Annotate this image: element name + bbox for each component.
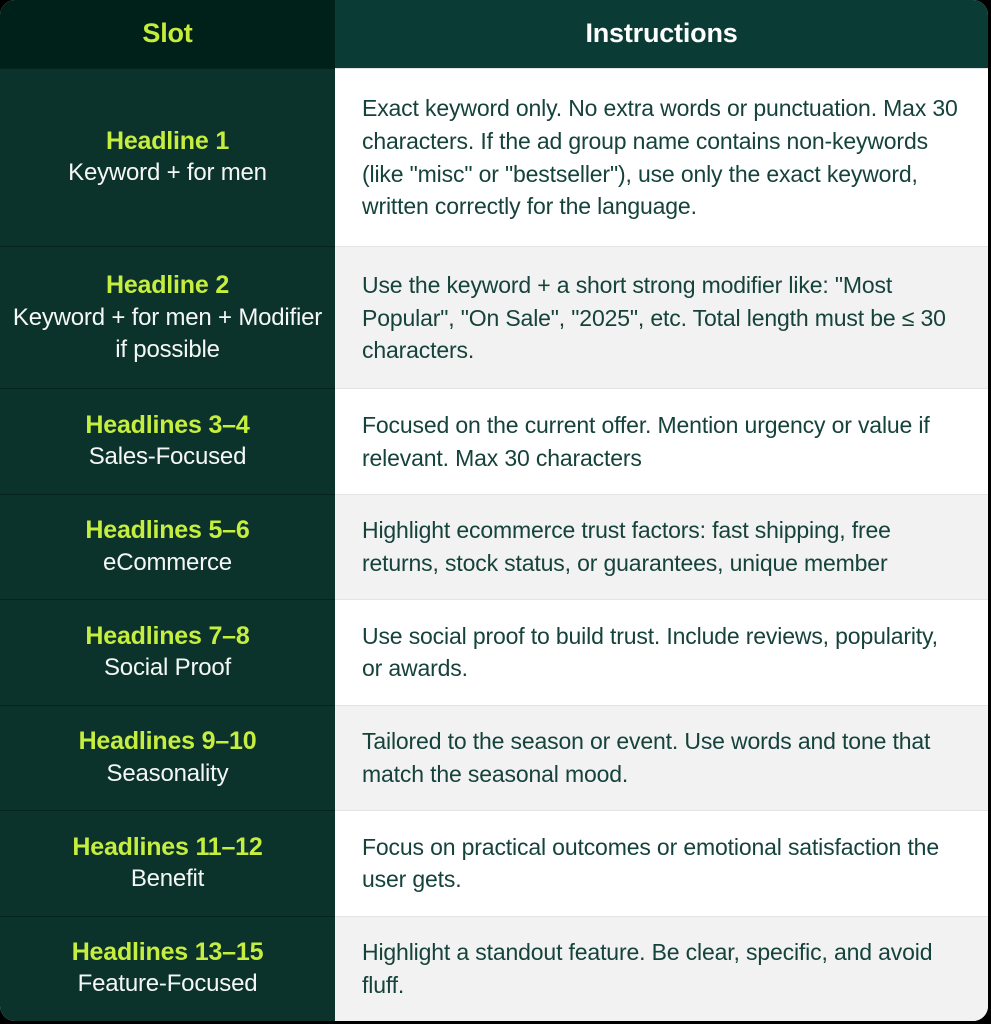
table-row: Headlines 5–6 eCommerce Highlight ecomme… <box>0 494 988 599</box>
table-row: Headline 2 Keyword + for men + Modifier … <box>0 247 988 389</box>
instructions-text: Use social proof to build trust. Include… <box>362 620 962 685</box>
column-header-instructions-label: Instructions <box>585 18 737 48</box>
slot-cell: Headlines 5–6 eCommerce <box>0 494 335 599</box>
slot-subtitle: eCommerce <box>12 547 323 579</box>
table-row: Headlines 13–15 Feature-Focused Highligh… <box>0 916 988 1021</box>
slot-title: Headlines 11–12 <box>12 832 323 863</box>
slot-cell: Headline 2 Keyword + for men + Modifier … <box>0 247 335 389</box>
slot-subtitle: Sales-Focused <box>12 441 323 473</box>
slot-cell: Headlines 11–12 Benefit <box>0 811 335 916</box>
column-header-slot: Slot <box>0 0 335 69</box>
slot-cell: Headlines 3–4 Sales-Focused <box>0 389 335 494</box>
slot-cell: Headline 1 Keyword + for men <box>0 69 335 247</box>
table-row: Headlines 9–10 Seasonality Tailored to t… <box>0 705 988 810</box>
column-header-instructions: Instructions <box>335 0 988 69</box>
slot-subtitle: Keyword + for men <box>12 157 323 189</box>
instructions-cell: Exact keyword only. No extra words or pu… <box>335 69 988 247</box>
slot-subtitle: Feature-Focused <box>12 968 323 1000</box>
instructions-text: Focused on the current offer. Mention ur… <box>362 409 962 474</box>
slot-title: Headline 1 <box>12 126 323 157</box>
instructions-cell: Highlight ecommerce trust factors: fast … <box>335 494 988 599</box>
table-row: Headlines 11–12 Benefit Focus on practic… <box>0 811 988 916</box>
instructions-cell: Tailored to the season or event. Use wor… <box>335 705 988 810</box>
instructions-cell: Focused on the current offer. Mention ur… <box>335 389 988 494</box>
slot-subtitle: Seasonality <box>12 758 323 790</box>
slot-title: Headlines 3–4 <box>12 410 323 441</box>
slot-subtitle: Benefit <box>12 863 323 895</box>
slot-subtitle: Keyword + for men + Modifier if possible <box>12 302 323 366</box>
slot-subtitle: Social Proof <box>12 652 323 684</box>
slot-title: Headlines 13–15 <box>12 937 323 968</box>
slot-title: Headlines 9–10 <box>12 726 323 757</box>
slot-cell: Headlines 13–15 Feature-Focused <box>0 916 335 1021</box>
table-row: Headlines 7–8 Social Proof Use social pr… <box>0 600 988 705</box>
instructions-text: Tailored to the season or event. Use wor… <box>362 725 962 790</box>
instructions-text: Highlight ecommerce trust factors: fast … <box>362 514 962 579</box>
instructions-cell: Use social proof to build trust. Include… <box>335 600 988 705</box>
instructions-table-container: Slot Instructions Headline 1 Keyword + f… <box>0 0 988 1021</box>
instructions-cell: Use the keyword + a short strong modifie… <box>335 247 988 389</box>
instructions-cell: Focus on practical outcomes or emotional… <box>335 811 988 916</box>
instructions-text: Use the keyword + a short strong modifie… <box>362 269 962 367</box>
slot-title: Headline 2 <box>12 270 323 301</box>
table-row: Headlines 3–4 Sales-Focused Focused on t… <box>0 389 988 494</box>
instructions-cell: Highlight a standout feature. Be clear, … <box>335 916 988 1021</box>
slot-title: Headlines 5–6 <box>12 515 323 546</box>
instructions-table: Slot Instructions Headline 1 Keyword + f… <box>0 0 988 1021</box>
slot-cell: Headlines 9–10 Seasonality <box>0 705 335 810</box>
slot-title: Headlines 7–8 <box>12 621 323 652</box>
table-header-row: Slot Instructions <box>0 0 988 69</box>
table-row: Headline 1 Keyword + for men Exact keywo… <box>0 69 988 247</box>
instructions-text: Focus on practical outcomes or emotional… <box>362 831 962 896</box>
column-header-slot-label: Slot <box>142 18 192 48</box>
instructions-text: Highlight a standout feature. Be clear, … <box>362 936 962 1001</box>
instructions-text: Exact keyword only. No extra words or pu… <box>362 92 962 223</box>
slot-cell: Headlines 7–8 Social Proof <box>0 600 335 705</box>
